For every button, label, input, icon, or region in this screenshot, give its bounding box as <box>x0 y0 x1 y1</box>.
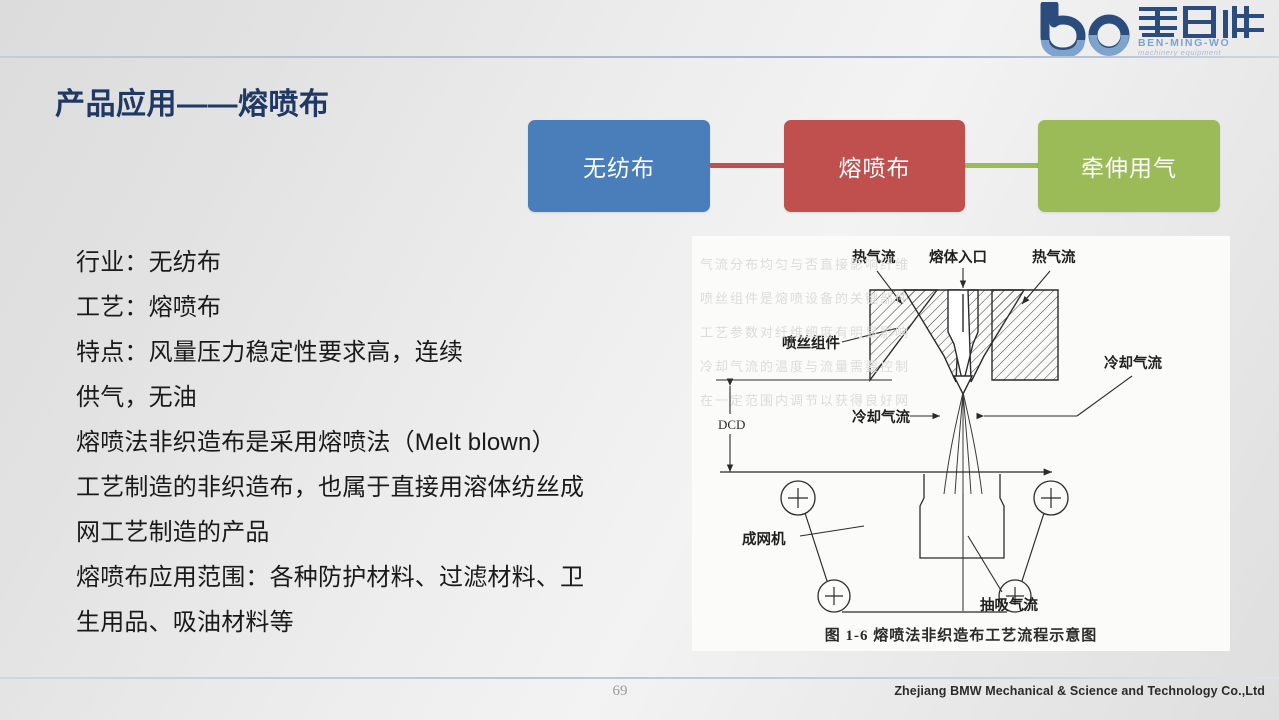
bo-monogram-icon <box>1045 5 1125 54</box>
header-divider <box>0 56 1279 58</box>
body-line: 工艺制造的非织造布，也属于直接用溶体纺丝成 <box>76 465 676 510</box>
body-line: 行业：无纺布 <box>76 240 676 285</box>
company-logo: BEN-MING-WO machinery equipment <box>1039 2 1271 56</box>
logo-tagline: machinery equipment <box>1138 48 1221 56</box>
connector-nonwoven-to-meltblown <box>710 163 786 168</box>
label-melt-inlet: 熔体入口 <box>929 248 987 266</box>
scan-ghost-text: 气流分布均匀与否直接影响纤维 <box>700 254 910 273</box>
process-diagram-figure: 气流分布均匀与否直接影响纤维 喷丝组件是熔喷设备的关键部件 工艺参数对纤维细度有… <box>692 236 1230 651</box>
label-web-former: 成网机 <box>742 530 786 548</box>
scan-ghost-text: 在一定范围内调节以获得良好网 <box>700 390 910 409</box>
flow-box-meltblown-label: 熔喷布 <box>839 149 911 183</box>
flow-box-meltblown[interactable]: 熔喷布 <box>784 120 965 212</box>
flow-box-nonwoven[interactable]: 无纺布 <box>528 120 710 212</box>
scan-ghost-text: 冷却气流的温度与流量需要控制 <box>700 356 910 375</box>
logo-brand-cn <box>1139 6 1264 38</box>
body-text-block: 行业：无纺布 工艺：熔喷布 特点：风量压力稳定性要求高，连续 供气，无油 熔喷法… <box>76 240 676 645</box>
body-line: 供气，无油 <box>76 375 676 420</box>
flow-box-drawair[interactable]: 牵伸用气 <box>1038 120 1220 212</box>
connector-meltblown-to-drawair <box>965 163 1040 168</box>
page-number: 69 <box>600 683 640 700</box>
body-line: 熔喷布应用范围：各种防护材料、过滤材料、卫 <box>76 555 676 600</box>
flow-box-drawair-label: 牵伸用气 <box>1081 149 1177 183</box>
body-line: 生用品、吸油材料等 <box>76 600 676 645</box>
scan-ghost-text: 工艺参数对纤维细度有明显影响 <box>700 322 910 341</box>
figure-caption: 图 1-6 熔喷法非织造布工艺流程示意图 <box>692 624 1230 645</box>
body-line: 熔喷法非织造布是采用熔喷法（Melt blown） <box>76 420 676 465</box>
footer-company-name: Zhejiang BMW Mechanical & Science and Te… <box>894 684 1265 698</box>
page-title: 产品应用——熔喷布 <box>55 79 330 123</box>
label-hot-air-right: 热气流 <box>1032 248 1076 266</box>
label-cooling-air-right: 冷却气流 <box>1104 354 1162 372</box>
flow-box-nonwoven-label: 无纺布 <box>583 149 655 183</box>
body-line: 工艺：熔喷布 <box>76 285 676 330</box>
footer-divider <box>0 677 1279 679</box>
scan-ghost-text: 喷丝组件是熔喷设备的关键部件 <box>700 288 910 307</box>
slide-canvas: BEN-MING-WO machinery equipment 产品应用——熔喷… <box>0 0 1279 720</box>
label-cooling-air-center: 冷却气流 <box>852 408 910 426</box>
body-line: 特点：风量压力稳定性要求高，连续 <box>76 330 676 375</box>
label-dcd: DCD <box>718 417 745 432</box>
label-suction-air: 抽吸气流 <box>980 596 1038 614</box>
body-line: 网工艺制造的产品 <box>76 510 676 555</box>
